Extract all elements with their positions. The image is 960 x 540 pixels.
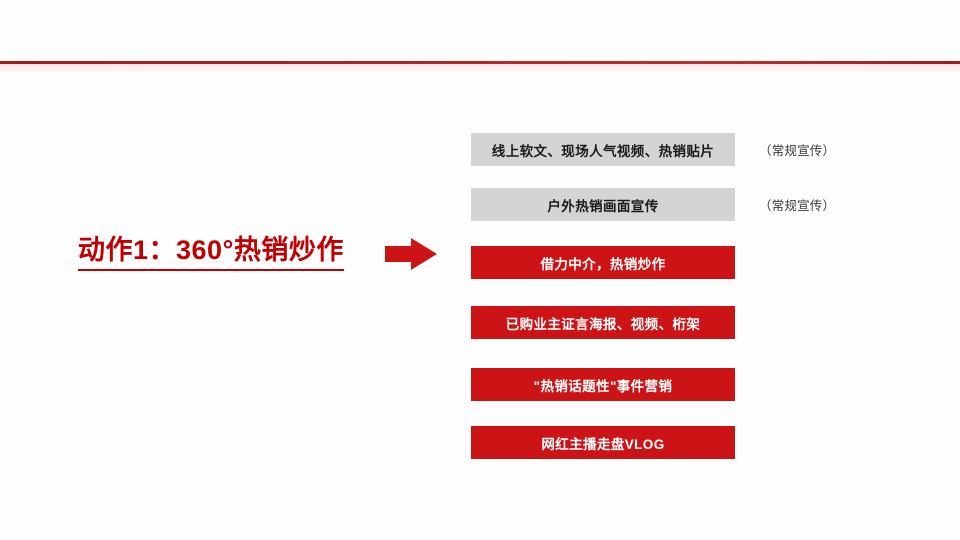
top-divider-shadow bbox=[0, 64, 960, 74]
item-label: 借力中介，热销炒作 bbox=[540, 253, 665, 273]
item-note: （常规宣传） bbox=[759, 133, 835, 166]
item-label: 已购业主证言海报、视频、桁架 bbox=[506, 313, 701, 333]
list-item: 已购业主证言海报、视频、桁架 bbox=[471, 306, 891, 339]
item-label: 户外热销画面宣传 bbox=[547, 195, 658, 215]
page-title: 动作1：360°热销炒作 bbox=[78, 228, 368, 278]
page-title-text: 动作1：360°热销炒作 bbox=[78, 235, 344, 271]
item-box[interactable]: "热销话题性"事件营销 bbox=[471, 368, 735, 401]
arrow-right-icon bbox=[383, 236, 439, 272]
item-label: 网红主播走盘VLOG bbox=[541, 433, 664, 453]
list-item: 线上软文、现场人气视频、热销贴片 （常规宣传） bbox=[471, 133, 891, 166]
list-item: "热销话题性"事件营销 bbox=[471, 368, 891, 401]
item-box[interactable]: 已购业主证言海报、视频、桁架 bbox=[471, 306, 735, 339]
list-item: 网红主播走盘VLOG bbox=[471, 426, 891, 459]
item-box[interactable]: 网红主播走盘VLOG bbox=[471, 426, 735, 459]
slide-canvas: 动作1：360°热销炒作 线上软文、现场人气视频、热销贴片 （常规宣传） 户外热… bbox=[0, 0, 960, 540]
list-item: 借力中介，热销炒作 bbox=[471, 246, 891, 279]
list-item: 户外热销画面宣传 （常规宣传） bbox=[471, 188, 891, 221]
item-note: （常规宣传） bbox=[759, 188, 835, 221]
item-label: "热销话题性"事件营销 bbox=[534, 375, 673, 395]
item-box[interactable]: 借力中介，热销炒作 bbox=[471, 246, 735, 279]
item-box[interactable]: 户外热销画面宣传 bbox=[471, 188, 735, 221]
item-box[interactable]: 线上软文、现场人气视频、热销贴片 bbox=[471, 133, 735, 166]
item-label: 线上软文、现场人气视频、热销贴片 bbox=[492, 140, 714, 160]
